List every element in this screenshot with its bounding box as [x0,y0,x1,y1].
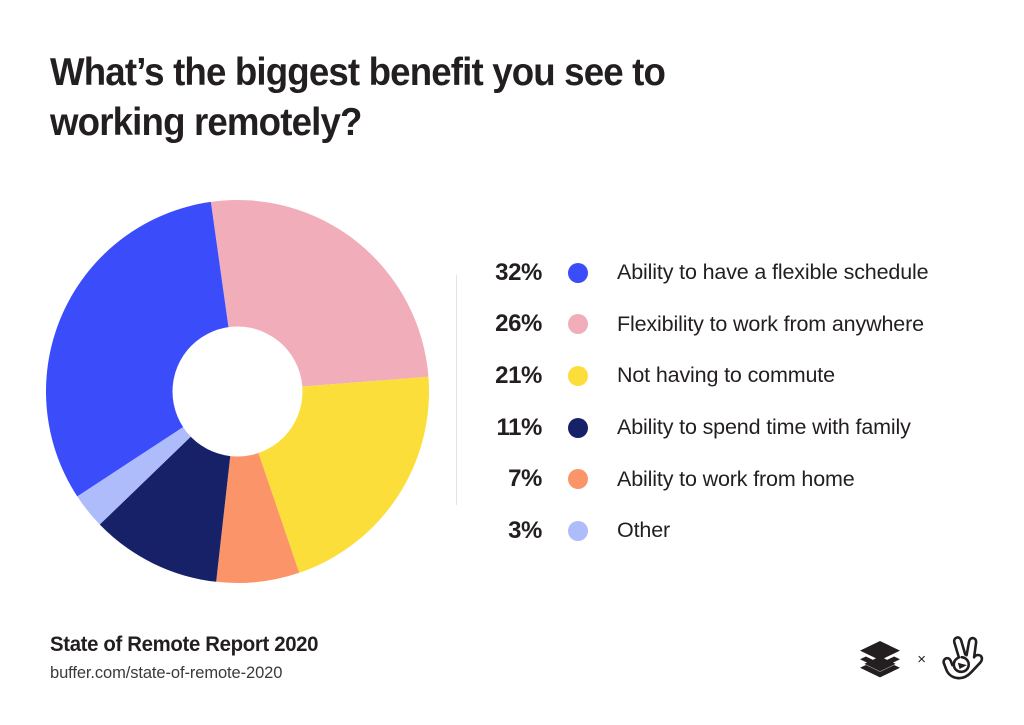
legend-color-swatch-icon [568,469,588,489]
legend-item[interactable]: 3%Other [482,505,982,557]
buffer-logo-icon [857,636,903,682]
legend-color-swatch-icon [568,418,588,438]
legend-item[interactable]: 32%Ability to have a flexible schedule [482,247,982,299]
legend-item[interactable]: 21%Not having to commute [482,350,982,402]
legend-item-percent: 11% [482,414,542,442]
legend-color-swatch-icon [568,521,588,541]
legend-item-percent: 7% [482,465,542,493]
legend-item-percent: 21% [482,362,542,390]
brand-logo-group: × [857,634,986,684]
chart-legend: 32%Ability to have a flexible schedule26… [482,247,982,557]
legend-item-percent: 32% [482,259,542,287]
legend-item-percent: 3% [482,517,542,545]
legend-item[interactable]: 26%Flexibility to work from anywhere [482,299,982,351]
logo-separator-x: × [917,652,926,667]
legend-item-label: Ability to work from home [617,467,855,492]
legend-item-label: Ability to spend time with family [617,415,911,440]
page-title-line-1: What’s the biggest benefit you see to [50,48,821,98]
legend-color-swatch-icon [568,314,588,334]
donut-chart [46,200,429,583]
legend-item[interactable]: 11%Ability to spend time with family [482,402,982,454]
angellist-logo-icon [940,634,986,684]
legend-item-label: Not having to commute [617,363,835,388]
infographic-canvas: What’s the biggest benefit you see to wo… [0,0,1024,725]
page-title-line-2: working remotely? [50,98,821,148]
legend-color-swatch-icon [568,366,588,386]
legend-item[interactable]: 7%Ability to work from home [482,453,982,505]
donut-chart-svg [46,200,429,583]
legend-item-label: Other [617,518,670,543]
legend-item-label: Ability to have a flexible schedule [617,260,928,285]
page-title: What’s the biggest benefit you see to wo… [50,48,870,148]
legend-item-percent: 26% [482,310,542,338]
report-title: State of Remote Report 2020 [50,633,318,657]
donut-center-hole [173,327,303,457]
legend-item-label: Flexibility to work from anywhere [617,312,924,337]
footer: State of Remote Report 2020 buffer.com/s… [50,633,326,683]
legend-color-swatch-icon [568,263,588,283]
chart-legend-divider [456,275,457,505]
report-url[interactable]: buffer.com/state-of-remote-2020 [50,664,326,683]
